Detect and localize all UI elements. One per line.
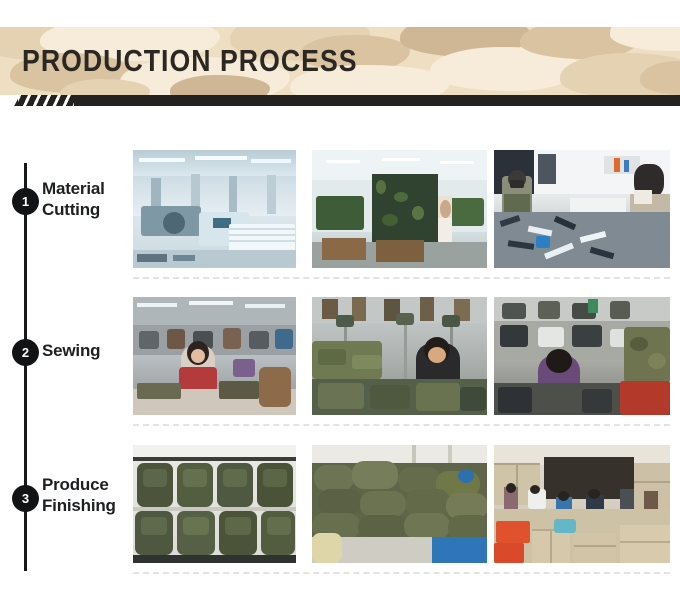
- photo-step2-busy-workshop[interactable]: [494, 297, 670, 415]
- photo-step3-gear-pile[interactable]: [312, 445, 487, 563]
- bar-diagonal-stripes: [18, 95, 74, 106]
- divider-after-step-1: [133, 277, 670, 279]
- step-label-3-line2: Finishing: [42, 495, 130, 516]
- step-label-3: Produce Finishing: [42, 474, 130, 516]
- production-process-infographic: PRODUCTION PROCESS 1 Material Cutting: [0, 0, 680, 607]
- step-label-2-line1: Sewing: [42, 340, 130, 361]
- page-title: PRODUCTION PROCESS: [22, 44, 358, 78]
- photo-step1-cutting-table[interactable]: [494, 150, 670, 268]
- step-label-1-line1: Material: [42, 178, 130, 199]
- step-label-1-line2: Cutting: [42, 199, 130, 220]
- step-marker-1: 1: [12, 188, 39, 215]
- photo-step2-sewing-stations[interactable]: [312, 297, 487, 415]
- divider-after-step-3: [133, 572, 670, 574]
- step-marker-3: 3: [12, 485, 39, 512]
- step-label-3-line1: Produce: [42, 474, 130, 495]
- photo-step2-sewing-floor[interactable]: [133, 297, 296, 415]
- step-label-1: Material Cutting: [42, 178, 130, 220]
- photo-step3-packing-warehouse[interactable]: [494, 445, 670, 563]
- header-dark-bar: [0, 95, 680, 106]
- photo-step1-weaving-loom[interactable]: [133, 150, 296, 268]
- divider-after-step-2: [133, 424, 670, 426]
- bar-notch: [0, 95, 20, 106]
- photo-step3-finished-backpacks[interactable]: [133, 445, 296, 563]
- step-marker-2: 2: [12, 339, 39, 366]
- photo-step1-fabric-inspection[interactable]: [312, 150, 487, 268]
- step-label-2: Sewing: [42, 340, 130, 361]
